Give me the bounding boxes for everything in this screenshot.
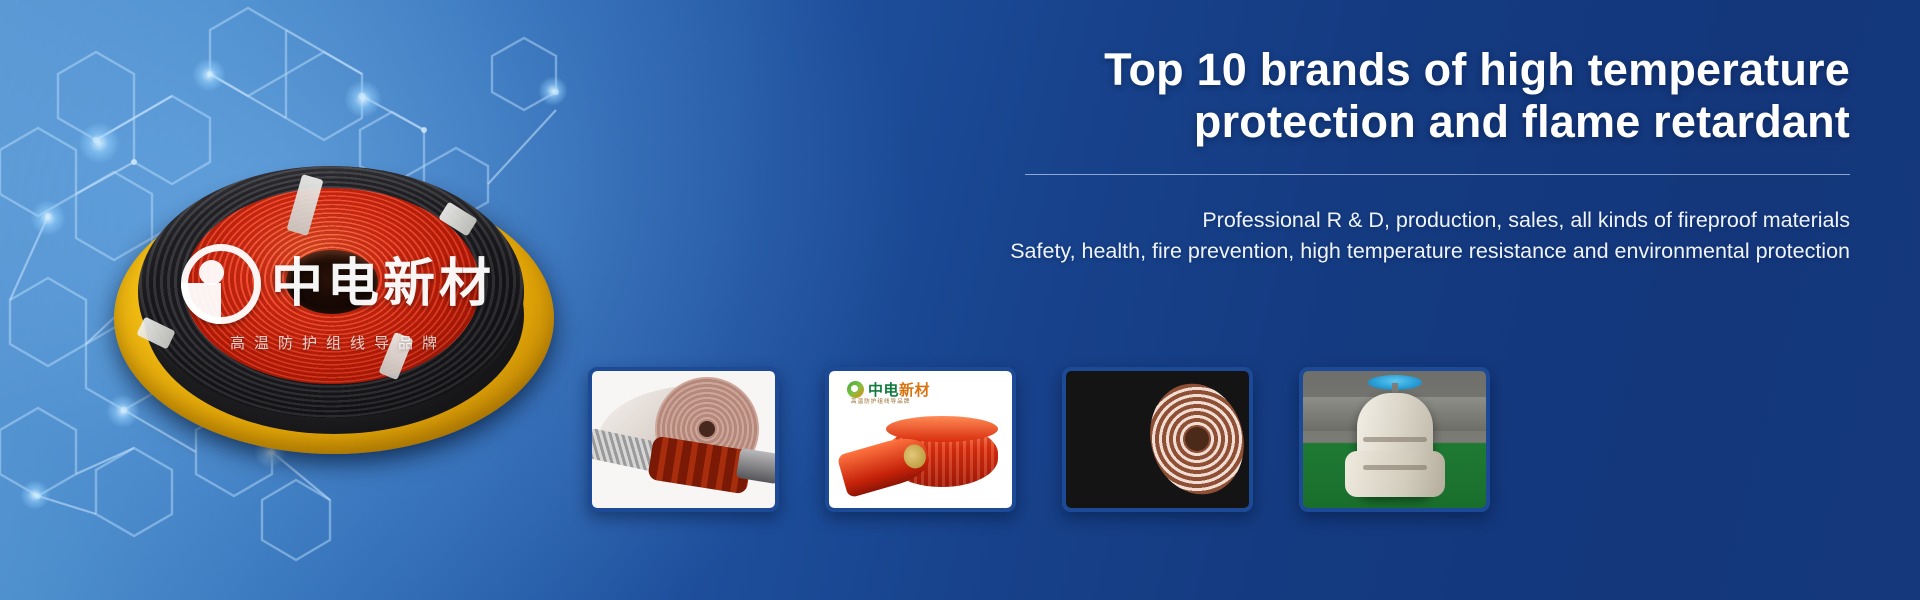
headline-line-1: Top 10 brands of high temperature <box>1104 44 1850 95</box>
bg-glow-node <box>192 58 226 92</box>
jacket-strap <box>1363 437 1427 442</box>
bg-glow-node <box>254 436 286 468</box>
subtitle-line-2: Safety, health, fire prevention, high te… <box>760 236 1850 267</box>
thumbnail-image <box>1303 371 1486 508</box>
product-watermark: 中电新材 高温防护组线导品牌 <box>116 244 560 353</box>
title-divider <box>1025 174 1850 175</box>
insulation-jacket <box>1357 393 1433 497</box>
copy-block: Top 10 brands of high temperature protec… <box>760 44 1850 266</box>
brand-logo-icon <box>847 381 864 398</box>
thumbnail-red-fire-sleeve-roll[interactable]: 中电新材 高温防护组线导品牌 <box>825 367 1016 512</box>
bg-glow-node <box>106 394 140 428</box>
product-yellow-ring <box>114 182 554 454</box>
headline-line-2: protection and flame retardant <box>1194 96 1850 147</box>
product-red-coil <box>184 188 480 384</box>
red-sleeve-cut-piece <box>837 432 934 499</box>
bg-glow-node <box>78 122 120 164</box>
hero-banner: 中电新材 高温防护组线导品牌 Top 10 brands of high tem… <box>0 0 1920 600</box>
bg-glow-node <box>538 76 568 106</box>
thumbnail-image <box>592 371 775 508</box>
watermark-brand-text: 中电新材 <box>271 258 495 310</box>
bg-glow-node <box>20 480 50 510</box>
product-tape <box>378 332 413 380</box>
bg-glow-node <box>30 200 66 236</box>
brand-logo-icon <box>181 244 261 324</box>
product-tape <box>438 202 477 237</box>
bg-glow-node <box>344 80 382 118</box>
product-thumbnail-row: 中电新材 高温防护组线导品牌 <box>588 367 1490 512</box>
watermark-tagline: 高温防护组线导品牌 <box>116 332 560 353</box>
subtitle-block: Professional R & D, production, sales, a… <box>760 205 1850 266</box>
product-tape <box>136 317 175 350</box>
bg-glow-node <box>282 212 322 252</box>
thumbnail-image: 中电新材 高温防护组线导品牌 <box>829 371 1012 508</box>
product-tape <box>286 174 323 236</box>
thumbnail-image <box>1066 371 1249 508</box>
card-logo-tagline: 高温防护组线导品牌 <box>851 397 910 405</box>
jacket-strap <box>1363 465 1427 470</box>
thumbnail-insulated-valve-jacket[interactable] <box>1299 367 1490 512</box>
thumbnail-fireproof-fabric-roll[interactable] <box>1062 367 1253 512</box>
product-shadow <box>118 178 558 458</box>
subtitle-line-1: Professional R & D, production, sales, a… <box>760 205 1850 236</box>
product-black-coil <box>138 166 524 418</box>
page-title: Top 10 brands of high temperature protec… <box>760 44 1850 148</box>
thumbnail-fire-sleeve-hose[interactable] <box>588 367 779 512</box>
hero-product-image: 中电新材 高温防护组线导品牌 <box>108 148 568 458</box>
